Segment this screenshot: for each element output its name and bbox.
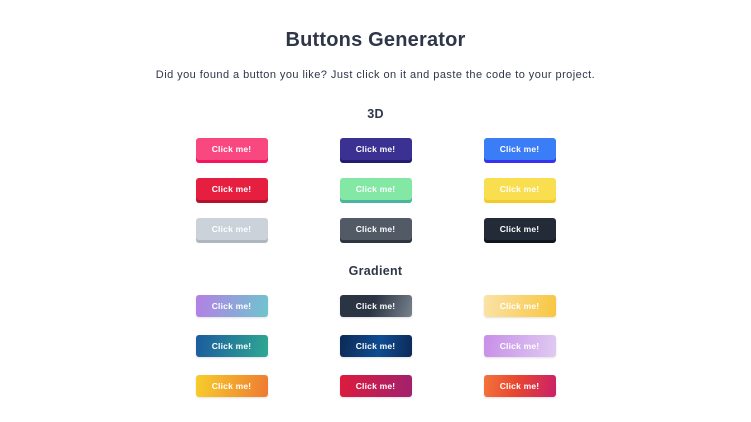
- button-gradient-purple-teal[interactable]: Click me!: [196, 295, 268, 317]
- button-3d-slate[interactable]: Click me!: [340, 218, 412, 240]
- button-3d-navy[interactable]: Click me!: [484, 218, 556, 240]
- button-gradient-gold-orange[interactable]: Click me!: [196, 375, 268, 397]
- button-3d-green[interactable]: Click me!: [340, 178, 412, 200]
- button-3d-red[interactable]: Click me!: [196, 178, 268, 200]
- button-grid-3d: Click me!Click me!Click me!Click me!Clic…: [196, 121, 556, 240]
- button-gradient-navy-blue[interactable]: Click me!: [340, 335, 412, 357]
- button-3d-indigo[interactable]: Click me!: [340, 138, 412, 160]
- button-3d-pink[interactable]: Click me!: [196, 138, 268, 160]
- button-grid-gradient: Click me!Click me!Click me!Click me!Clic…: [196, 278, 556, 397]
- button-3d-yellow[interactable]: Click me!: [484, 178, 556, 200]
- button-3d-gray[interactable]: Click me!: [196, 218, 268, 240]
- button-gradient-dark-gray[interactable]: Click me!: [340, 295, 412, 317]
- button-gradient-orange-pink[interactable]: Click me!: [484, 375, 556, 397]
- page-title: Buttons Generator: [0, 0, 751, 52]
- buttons-generator-page: Buttons Generator Did you found a button…: [0, 0, 751, 422]
- section-title-gradient: Gradient: [0, 264, 751, 278]
- button-gradient-lavender[interactable]: Click me!: [484, 335, 556, 357]
- button-gradient-blue-green[interactable]: Click me!: [196, 335, 268, 357]
- button-gradient-red-purple[interactable]: Click me!: [340, 375, 412, 397]
- section-3d: 3D Click me!Click me!Click me!Click me!C…: [0, 107, 751, 240]
- section-title-3d: 3D: [0, 107, 751, 121]
- section-gradient: Gradient Click me!Click me!Click me!Clic…: [0, 264, 751, 397]
- button-3d-blue[interactable]: Click me!: [484, 138, 556, 160]
- button-gradient-soft-gold[interactable]: Click me!: [484, 295, 556, 317]
- page-subtitle: Did you found a button you like? Just cl…: [0, 52, 751, 81]
